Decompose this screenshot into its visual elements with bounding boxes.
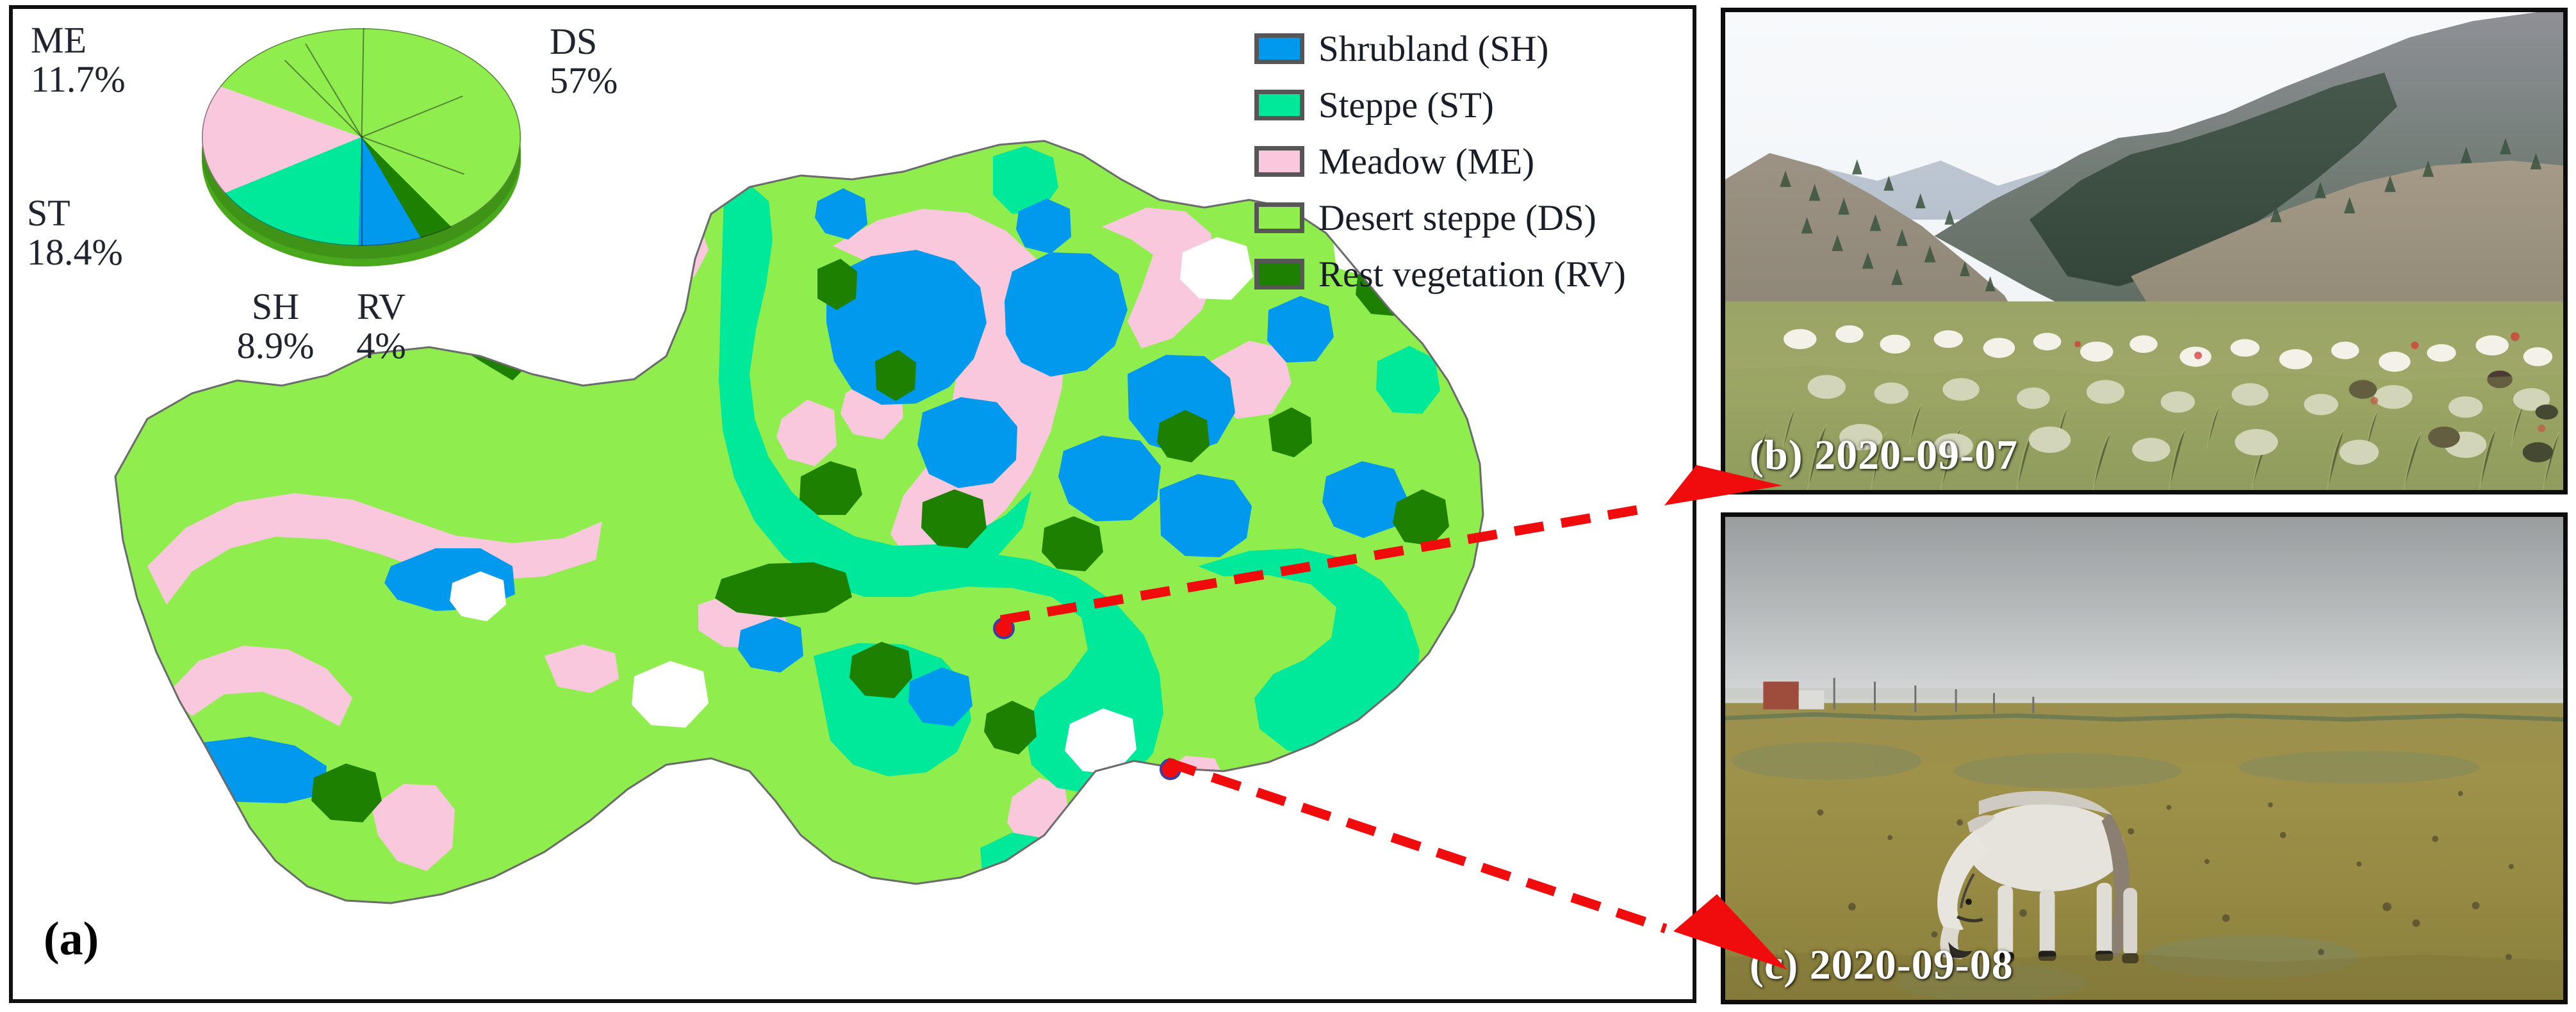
- legend-item-rest-vegetation[interactable]: Rest vegetation (RV): [1254, 246, 1677, 302]
- legend-label-steppe: Steppe (ST): [1318, 85, 1494, 126]
- pie-label-rv: RV 4%: [333, 287, 429, 366]
- pie-divider: [362, 136, 464, 175]
- map-marker-site-c[interactable]: [1160, 758, 1181, 780]
- legend-swatch-meadow: [1254, 146, 1304, 177]
- legend-label-desert-steppe: Desert steppe (DS): [1318, 197, 1596, 239]
- legend-swatch-desert-steppe: [1254, 202, 1304, 233]
- photo-b-caption: (b) 2020-09-07: [1750, 431, 2018, 480]
- pie-label-ds: DS 57%: [550, 22, 618, 101]
- photo-b-image: [1725, 12, 2563, 490]
- pie-divider: [361, 96, 463, 138]
- photo-c-caption: (c) 2020-09-08: [1750, 941, 2014, 990]
- legend-item-meadow[interactable]: Meadow (ME): [1254, 133, 1677, 190]
- pie-divider: [361, 28, 365, 137]
- legend-label-shrubland: Shrubland (SH): [1318, 28, 1548, 70]
- pie-label-me: ME 11.7%: [31, 20, 126, 99]
- pie-label-st: ST 18.4%: [27, 193, 123, 272]
- pie-divider: [361, 137, 363, 246]
- legend-item-steppe[interactable]: Steppe (ST): [1254, 77, 1677, 133]
- distant-truck: [1763, 681, 1798, 709]
- panel-a-label: (a): [44, 912, 99, 967]
- legend-swatch-steppe: [1254, 90, 1304, 120]
- map-legend: Shrubland (SH) Steppe (ST) Meadow (ME) D…: [1254, 20, 1677, 302]
- photo-c-image: [1725, 517, 2563, 1000]
- pie-face: [202, 28, 521, 246]
- figure-root: ME 11.7% ST 18.4% SH 8.9% RV 4% DS 57%: [0, 0, 2576, 1012]
- vegetation-pie-chart: [183, 20, 561, 296]
- photo-panel-b: (b) 2020-09-07: [1721, 8, 2568, 494]
- legend-label-rest-vegetation: Rest vegetation (RV): [1318, 254, 1626, 295]
- pie-label-sh: SH 8.9%: [224, 287, 327, 366]
- photo-panel-c: (c) 2020-09-08: [1721, 512, 2568, 1004]
- legend-swatch-shrubland: [1254, 33, 1304, 64]
- legend-item-shrubland[interactable]: Shrubland (SH): [1254, 20, 1677, 77]
- distant-vehicle: [1799, 690, 1825, 709]
- legend-swatch-rest-vegetation: [1254, 259, 1304, 290]
- legend-label-meadow: Meadow (ME): [1318, 141, 1534, 183]
- panel-a-map-figure: ME 11.7% ST 18.4% SH 8.9% RV 4% DS 57%: [9, 5, 1696, 1003]
- map-marker-site-b[interactable]: [993, 617, 1015, 639]
- legend-item-desert-steppe[interactable]: Desert steppe (DS): [1254, 190, 1677, 246]
